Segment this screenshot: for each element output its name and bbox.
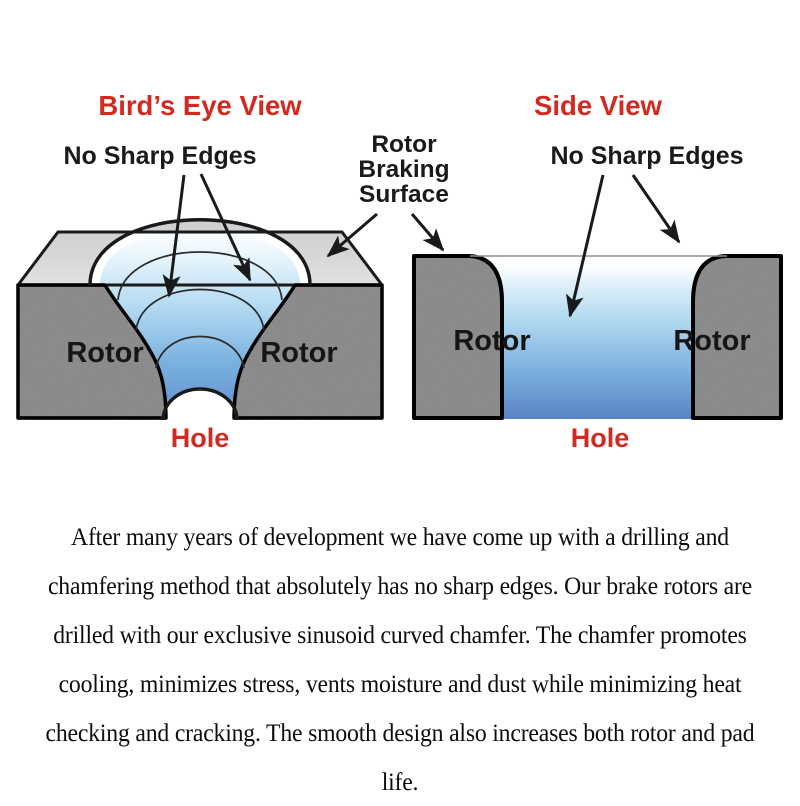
side-view-arrow-right: [633, 175, 679, 242]
birds-eye-title: Bird’s Eye View: [98, 90, 302, 121]
birds-eye-hole-label: Hole: [171, 423, 230, 453]
birds-eye-no-sharp-edges-label: No Sharp Edges: [63, 142, 256, 170]
rotor-braking-surface-label-line1: Rotor: [371, 131, 437, 158]
side-view-rotor-right-label: Rotor: [673, 325, 750, 357]
rotor-braking-surface-label-line3: Surface: [359, 181, 449, 208]
side-view-no-sharp-edges-label: No Sharp Edges: [550, 142, 743, 170]
diagram-area: Bird’s Eye View No Sharp Edges Rotor Rot…: [0, 0, 800, 500]
birds-eye-view-group: Bird’s Eye View No Sharp Edges Rotor Rot…: [18, 90, 382, 453]
side-view-group: Side View No Sharp Edges Rotor Rotor Hol…: [414, 90, 781, 453]
birds-eye-rotor-right-label: Rotor: [260, 337, 337, 369]
brake-rotor-diagram: Bird’s Eye View No Sharp Edges Rotor Rot…: [0, 0, 800, 500]
side-view-hole-top-fade: [500, 256, 696, 282]
side-view-rotor-left-label: Rotor: [453, 325, 530, 357]
side-view-hole-label: Hole: [571, 423, 630, 453]
side-view-title: Side View: [534, 90, 662, 121]
rotor-braking-surface-arrow-right: [412, 214, 443, 250]
birds-eye-rotor-left-label: Rotor: [66, 337, 143, 369]
caption-paragraph: After many years of development we have …: [28, 512, 772, 806]
rotor-braking-surface-label-line2: Braking: [358, 156, 449, 183]
